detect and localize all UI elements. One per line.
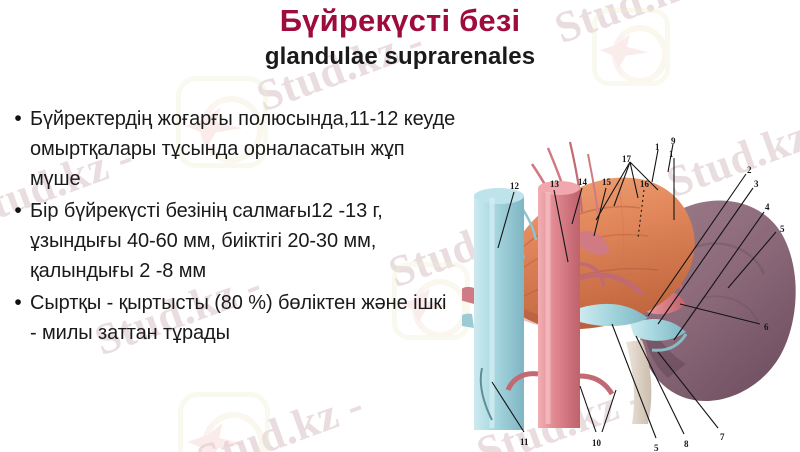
slide-canvas: Stud.kz -Stud.kz -Stud.kz -Stud.kz -Stud… bbox=[0, 0, 800, 452]
figure-label-6: 6 bbox=[764, 323, 769, 332]
figure-label-4: 4 bbox=[765, 203, 770, 212]
bullet-text: Бүйректердің жоғарғы полюсында,11-12 кеу… bbox=[30, 104, 458, 194]
figure-label-12: 12 bbox=[510, 182, 519, 191]
figure-label-3: 3 bbox=[754, 180, 759, 189]
bullet-marker-icon: • bbox=[6, 196, 30, 226]
page-subtitle: glandulae suprarenales bbox=[0, 43, 800, 71]
bullet-item: •Сыртқы - қыртысты (80 %) бөліктен және … bbox=[6, 288, 458, 348]
bullet-item: •Бүйректердің жоғарғы полюсында,11-12 ке… bbox=[6, 104, 458, 194]
anatomy-illustration bbox=[462, 128, 800, 450]
figure-label-10: 10 bbox=[592, 439, 601, 448]
anatomy-figure: 123456785101112131415161719 bbox=[462, 128, 800, 450]
bullet-marker-icon: • bbox=[6, 104, 30, 134]
bullet-text: Сыртқы - қыртысты (80 %) бөліктен және і… bbox=[30, 288, 458, 348]
figure-label-13: 13 bbox=[550, 180, 559, 189]
watermark-text: Stud.kz - bbox=[190, 379, 370, 452]
figure-label-16: 16 bbox=[640, 180, 649, 189]
page-title: Бүйрекүсті безі bbox=[0, 4, 800, 37]
figure-label-9: 9 bbox=[671, 137, 676, 146]
slide-header: Бүйрекүсті безі glandulae suprarenales bbox=[0, 0, 800, 71]
figure-label-5: 5 bbox=[780, 225, 785, 234]
bullet-item: •Бір бүйрекүсті безінің салмағы12 -13 г,… bbox=[6, 196, 458, 286]
figure-label-5: 5 bbox=[654, 444, 659, 452]
figure-label-1: 1 bbox=[655, 143, 660, 152]
watermark-bird-logo-icon bbox=[178, 392, 270, 452]
figure-label-11: 11 bbox=[520, 438, 529, 447]
figure-label-8: 8 bbox=[684, 440, 689, 449]
figure-label-15: 15 bbox=[602, 178, 611, 187]
figure-label-17: 17 bbox=[622, 155, 631, 164]
figure-label-14: 14 bbox=[578, 178, 587, 187]
bullet-text: Бір бүйрекүсті безінің салмағы12 -13 г, … bbox=[30, 196, 458, 286]
bullet-list: •Бүйректердің жоғарғы полюсында,11-12 ке… bbox=[6, 104, 458, 350]
inferior-vena-cava bbox=[462, 188, 524, 430]
figure-label-2: 2 bbox=[747, 166, 752, 175]
figure-label-1: 1 bbox=[669, 150, 674, 159]
figure-label-7: 7 bbox=[720, 433, 725, 442]
bullet-marker-icon: • bbox=[6, 288, 30, 318]
